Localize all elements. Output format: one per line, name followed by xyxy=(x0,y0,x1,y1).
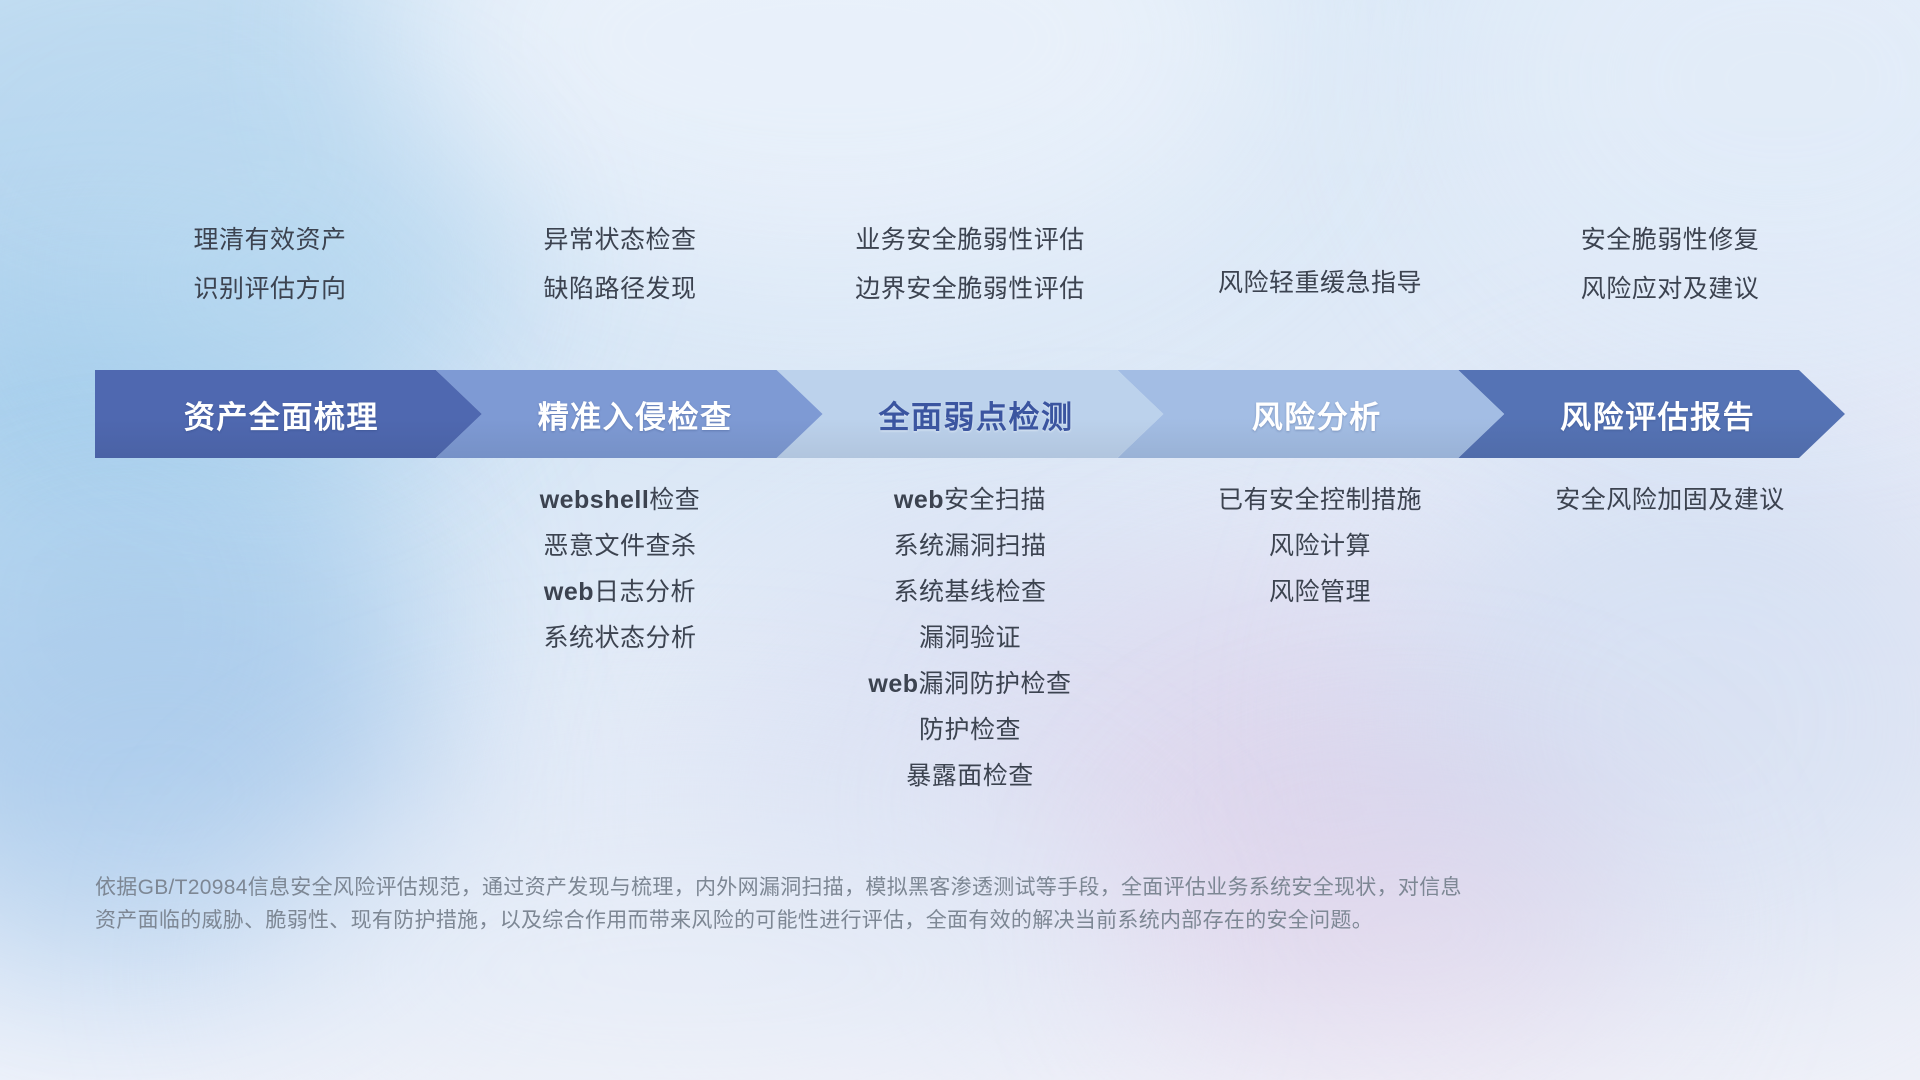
top-note: 识别评估方向 xyxy=(193,277,346,302)
stage-item-text: 检查 xyxy=(649,486,700,514)
stage-item: web安全扫描 xyxy=(894,488,1046,513)
stage-item-text: 已有安全控制措施 xyxy=(1218,486,1422,514)
top-note: 理清有效资产 xyxy=(193,228,346,253)
top-note: 缺陷路径发现 xyxy=(543,277,696,302)
stage-item-text: 防护检查 xyxy=(919,716,1021,744)
stage-item-keyword: web xyxy=(544,578,594,606)
stage-item: 风险管理 xyxy=(1269,580,1371,605)
stage-item: 已有安全控制措施 xyxy=(1218,488,1422,513)
top-notes-col-1: 理清有效资产识别评估方向 xyxy=(95,228,445,302)
top-note: 异常状态检查 xyxy=(543,228,696,253)
stage-item-text: 系统状态分析 xyxy=(543,624,696,652)
stage-title: 风险评估报告 xyxy=(1560,392,1755,437)
top-notes-row: 理清有效资产识别评估方向异常状态检查缺陷路径发现业务安全脆弱性评估边界安全脆弱性… xyxy=(95,228,1845,338)
stage-item-text: 安全扫描 xyxy=(944,486,1046,514)
footer-line-2: 资产面临的威胁、脆弱性、现有防护措施，以及综合作用而带来风险的可能性进行评估，全… xyxy=(95,905,1595,938)
stage-item: 系统状态分析 xyxy=(543,626,696,651)
stage-item-text: 漏洞验证 xyxy=(919,624,1021,652)
stage-item-text: 日志分析 xyxy=(594,578,696,606)
stage-item-text: 漏洞防护检查 xyxy=(919,670,1072,698)
bottom-items-row: webshell检查恶意文件查杀web日志分析系统状态分析web安全扫描系统漏洞… xyxy=(95,488,1845,789)
top-note: 边界安全脆弱性评估 xyxy=(855,277,1085,302)
stage-item-keyword: webshell xyxy=(540,486,650,514)
stage-item: web漏洞防护检查 xyxy=(868,672,1071,697)
process-stage-5[interactable]: 风险评估报告 xyxy=(1458,370,1845,458)
process-stage-2[interactable]: 精准入侵检查 xyxy=(436,370,823,458)
stage-item-text: 系统基线检查 xyxy=(893,578,1046,606)
top-notes-col-3: 业务安全脆弱性评估边界安全脆弱性评估 xyxy=(795,228,1145,302)
top-note: 安全脆弱性修复 xyxy=(1581,228,1760,253)
process-stage-1[interactable]: 资产全面梳理 xyxy=(95,370,482,458)
stage-item: 漏洞验证 xyxy=(919,626,1021,651)
process-stage-3[interactable]: 全面弱点检测 xyxy=(777,370,1164,458)
stage-item: 系统漏洞扫描 xyxy=(893,534,1046,559)
top-note: 风险轻重缓急指导 xyxy=(1218,271,1422,296)
stage-items-col-3: web安全扫描系统漏洞扫描系统基线检查漏洞验证web漏洞防护检查防护检查暴露面检… xyxy=(795,488,1145,789)
process-stage-4[interactable]: 风险分析 xyxy=(1117,370,1504,458)
stage-item-text: 风险计算 xyxy=(1269,532,1371,560)
stage-item: webshell检查 xyxy=(540,488,701,513)
top-note: 业务安全脆弱性评估 xyxy=(855,228,1085,253)
top-notes-col-2: 异常状态检查缺陷路径发现 xyxy=(445,228,795,302)
top-notes-col-5: 安全脆弱性修复风险应对及建议 xyxy=(1495,228,1845,302)
top-note: 风险应对及建议 xyxy=(1581,277,1760,302)
stage-items-col-5: 安全风险加固及建议 xyxy=(1495,488,1845,513)
stage-item-text: 恶意文件查杀 xyxy=(543,532,696,560)
footer-description: 依据GB/T20984信息安全风险评估规范，通过资产发现与梳理，内外网漏洞扫描，… xyxy=(95,872,1595,937)
footer-line-1: 依据GB/T20984信息安全风险评估规范，通过资产发现与梳理，内外网漏洞扫描，… xyxy=(95,872,1595,905)
top-notes-col-4: 风险轻重缓急指导 xyxy=(1145,228,1495,338)
stage-item-text: 风险管理 xyxy=(1269,578,1371,606)
stage-item-keyword: web xyxy=(868,670,918,698)
stage-item-text: 系统漏洞扫描 xyxy=(893,532,1046,560)
process-diagram: 理清有效资产识别评估方向异常状态检查缺陷路径发现业务安全脆弱性评估边界安全脆弱性… xyxy=(0,0,1920,1080)
stage-items-col-4: 已有安全控制措施风险计算风险管理 xyxy=(1145,488,1495,605)
stage-title: 资产全面梳理 xyxy=(184,392,379,437)
stage-title: 精准入侵检查 xyxy=(538,392,733,437)
stage-title: 全面弱点检测 xyxy=(878,392,1073,437)
stage-item: 风险计算 xyxy=(1269,534,1371,559)
stage-item: 安全风险加固及建议 xyxy=(1555,488,1785,513)
stage-item: 恶意文件查杀 xyxy=(543,534,696,559)
stage-item-keyword: web xyxy=(894,486,944,514)
stage-item: web日志分析 xyxy=(544,580,696,605)
stage-item-text: 暴露面检查 xyxy=(906,762,1034,790)
stage-item-text: 安全风险加固及建议 xyxy=(1555,486,1785,514)
stage-title: 风险分析 xyxy=(1252,392,1382,437)
stage-item: 系统基线检查 xyxy=(893,580,1046,605)
stage-items-col-2: webshell检查恶意文件查杀web日志分析系统状态分析 xyxy=(445,488,795,651)
stage-item: 暴露面检查 xyxy=(906,764,1034,789)
stage-item: 防护检查 xyxy=(919,718,1021,743)
process-chevron-band: 资产全面梳理精准入侵检查全面弱点检测风险分析风险评估报告 xyxy=(95,370,1845,458)
